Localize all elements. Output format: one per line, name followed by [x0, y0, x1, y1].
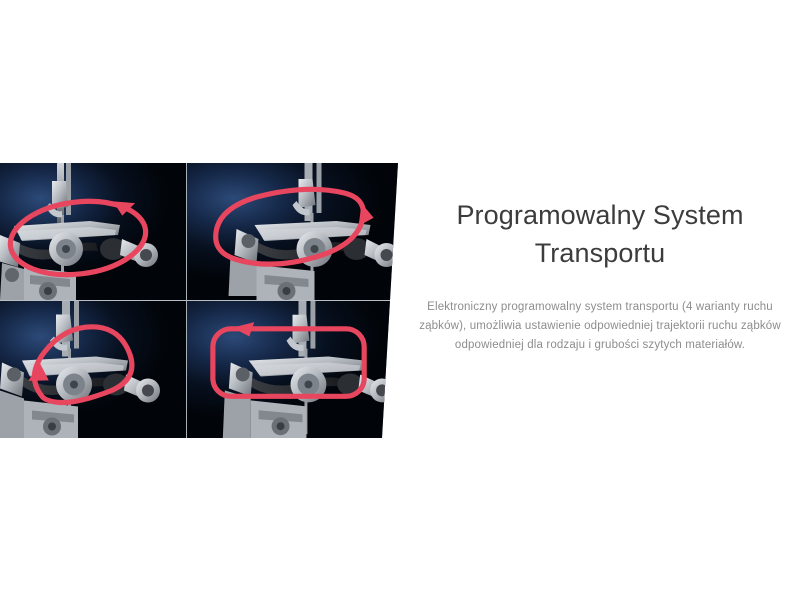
panel-4-inner [187, 301, 400, 438]
page-title: Programowalny System Transportu [404, 196, 796, 272]
direction-arrowhead [356, 202, 375, 226]
feature-banner: Programowalny System Transportu Elektron… [0, 0, 800, 600]
panel-2-inner [187, 163, 400, 300]
motion-path-angular-loop [187, 163, 400, 300]
panel-grid [0, 163, 400, 438]
motion-panel-rectangular [186, 300, 400, 438]
motion-path-rounded-rectangle [187, 301, 400, 438]
feature-description: Elektroniczny programowalny system trans… [418, 298, 782, 355]
feed-transport-motion-grid [0, 163, 400, 438]
feature-text-column: Programowalny System Transportu Elektron… [404, 196, 796, 355]
direction-arrowhead [28, 361, 51, 384]
motion-path-rounded-triangle [0, 301, 186, 438]
panel-3-inner [0, 301, 186, 438]
motion-panel-trapezoid [186, 163, 400, 300]
motion-panel-elliptical [0, 163, 186, 300]
motion-path-ellipse [0, 163, 186, 300]
panel-1-inner [0, 163, 186, 300]
motion-panel-triangular [0, 300, 186, 438]
